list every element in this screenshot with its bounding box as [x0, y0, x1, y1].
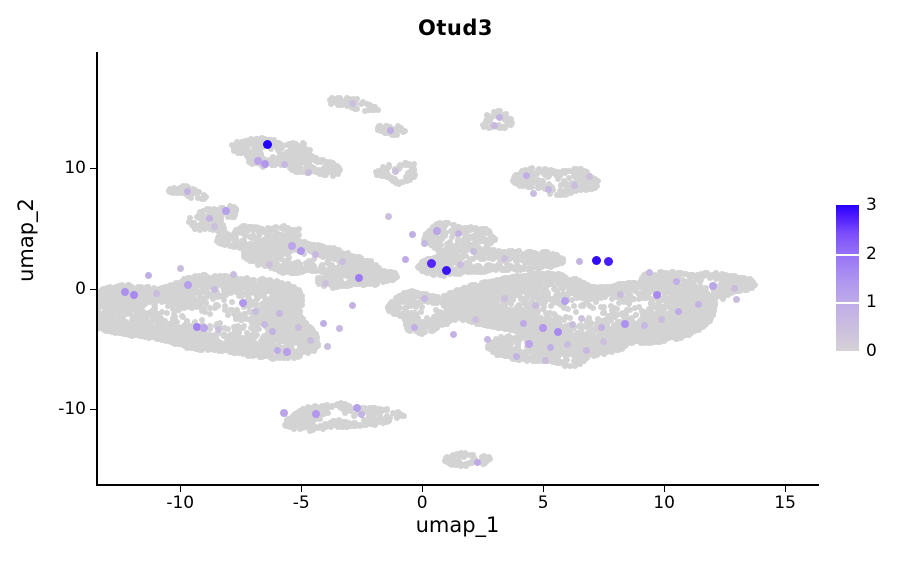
scatter-point — [249, 350, 255, 356]
scatter-point — [251, 327, 257, 333]
scatter-point — [161, 286, 167, 292]
scatter-point — [239, 315, 245, 321]
scatter-point — [296, 309, 302, 315]
scatter-point — [571, 303, 577, 309]
scatter-point — [234, 307, 240, 313]
scatter-point — [107, 309, 113, 315]
scatter-point — [265, 351, 271, 357]
scatter-point — [268, 295, 274, 301]
scatter-point — [334, 284, 340, 290]
scatter-point — [282, 248, 288, 254]
scatter-point — [239, 227, 245, 233]
scatter-point — [251, 301, 257, 307]
scatter-point — [340, 269, 346, 275]
scatter-point — [183, 327, 189, 333]
scatter-point — [127, 328, 133, 334]
scatter-point — [284, 229, 290, 235]
scatter-point — [298, 338, 304, 344]
scatter-point — [229, 299, 235, 305]
scatter-point — [225, 312, 231, 318]
scatter-point — [237, 245, 243, 251]
scatter-point — [197, 293, 203, 299]
scatter-point — [140, 295, 146, 301]
scatter-point — [201, 225, 207, 231]
scatter-point — [573, 309, 579, 315]
scatter-point — [99, 287, 105, 293]
scatter-point — [164, 310, 170, 316]
scatter-point — [392, 274, 398, 280]
scatter-point — [200, 208, 206, 214]
scatter-point — [264, 281, 270, 287]
scatter-point — [189, 302, 195, 308]
scatter-point — [221, 333, 227, 339]
scatter-point — [365, 258, 371, 264]
scatter-point — [275, 336, 281, 342]
scatter-point — [263, 335, 269, 341]
x-axis-spine — [96, 484, 819, 486]
scatter-point — [182, 338, 188, 344]
scatter-point — [231, 324, 237, 330]
scatter-point — [155, 325, 161, 331]
umap-feature-plot-figure: Otud3 -10-5051015 100-10 umap_1 umap_2 0… — [0, 0, 911, 562]
scatter-point — [221, 232, 227, 238]
scatter-point — [227, 348, 233, 354]
scatter-point — [203, 301, 209, 307]
scatter-point — [129, 285, 135, 291]
scatter-point — [246, 224, 252, 230]
scatter-point — [170, 290, 176, 296]
scatter-point — [313, 331, 319, 337]
scatter-point — [129, 301, 135, 307]
scatter-point — [286, 266, 292, 272]
scatter-point — [207, 311, 213, 317]
scatter-point — [241, 323, 247, 329]
scatter-point — [221, 297, 227, 303]
scatter-point — [138, 317, 144, 323]
scatter-point — [337, 249, 343, 255]
scatter-point — [155, 317, 161, 323]
scatter-point — [273, 355, 279, 361]
scatter-point — [381, 278, 387, 284]
scatter-point — [155, 332, 161, 338]
scatter-point — [313, 268, 319, 274]
scatter-point — [179, 313, 185, 319]
scatter-point — [266, 248, 272, 254]
plot-axes: -10-5051015 100-10 umap_1 umap_2 — [0, 0, 911, 562]
scatter-point — [278, 225, 284, 231]
scatter-point — [176, 307, 182, 313]
scatter-point — [120, 315, 126, 321]
scatter-point — [257, 277, 263, 283]
scatter-point — [367, 272, 373, 278]
scatter-point — [249, 247, 255, 253]
scatter-point — [272, 280, 278, 286]
scatter-point — [260, 347, 266, 353]
scatter-point — [210, 295, 216, 301]
scatter-point — [371, 278, 377, 284]
scatter-point — [249, 287, 255, 293]
scatter-plot-area — [98, 52, 819, 484]
scatter-point — [142, 285, 148, 291]
scatter-point — [196, 303, 202, 309]
scatter-point — [295, 316, 301, 322]
scatter-point — [209, 342, 215, 348]
scatter-point — [172, 314, 178, 320]
scatter-point — [252, 226, 258, 232]
scatter-point — [247, 279, 253, 285]
scatter-point — [136, 285, 142, 291]
scatter-point — [238, 347, 244, 353]
scatter-point — [308, 244, 314, 250]
scatter-point — [329, 262, 335, 268]
